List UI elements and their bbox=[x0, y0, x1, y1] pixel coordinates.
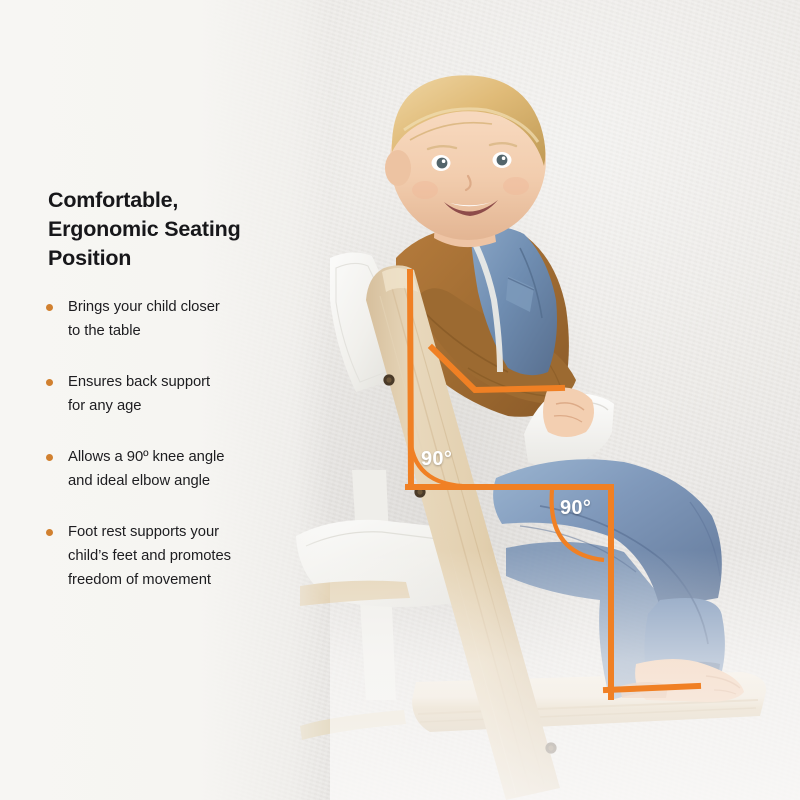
feature-list: Brings your child closer to the table En… bbox=[46, 296, 308, 593]
headline-line-3: Position bbox=[48, 244, 298, 273]
list-item-line-1: Brings your child closer bbox=[68, 299, 220, 315]
list-item-line-1: Ensures back support bbox=[68, 374, 210, 390]
knee-angle-arc bbox=[410, 428, 462, 486]
bullet-dot-icon bbox=[46, 304, 53, 311]
list-item: Foot rest supports your child’s feet and… bbox=[46, 521, 308, 593]
bullet-dot-icon bbox=[46, 454, 53, 461]
back-support-line bbox=[410, 272, 411, 487]
list-item: Ensures back support for any age bbox=[46, 371, 308, 419]
page-title: Comfortable, Ergonomic Seating Position bbox=[48, 186, 298, 272]
list-item-line-2: child’s feet and promotes bbox=[68, 548, 231, 564]
list-item-line-2: to the table bbox=[68, 323, 141, 339]
elbow-angle-arc bbox=[552, 490, 604, 560]
list-item-line-1: Foot rest supports your bbox=[68, 524, 219, 540]
bullet-dot-icon bbox=[46, 379, 53, 386]
list-item: Brings your child closer to the table bbox=[46, 296, 308, 344]
headline-line-2: Ergonomic Seating bbox=[48, 215, 298, 244]
footrest-line bbox=[606, 686, 698, 690]
headline-line-1: Comfortable, bbox=[48, 186, 298, 215]
list-item-line-2: and ideal elbow angle bbox=[68, 473, 210, 489]
bullet-dot-icon bbox=[46, 529, 53, 536]
product-feature-image: 90° 90° Comfortable, Ergonomic Seating P… bbox=[0, 0, 800, 800]
list-item-line-1: Allows a 90º knee angle bbox=[68, 449, 224, 465]
elbow-angle-lines bbox=[432, 348, 562, 390]
list-item-line-3: freedom of movement bbox=[68, 572, 211, 588]
list-item: Allows a 90º knee angle and ideal elbow … bbox=[46, 446, 308, 494]
text-panel: Comfortable, Ergonomic Seating Position … bbox=[0, 0, 330, 800]
list-item-line-2: for any age bbox=[68, 398, 142, 414]
